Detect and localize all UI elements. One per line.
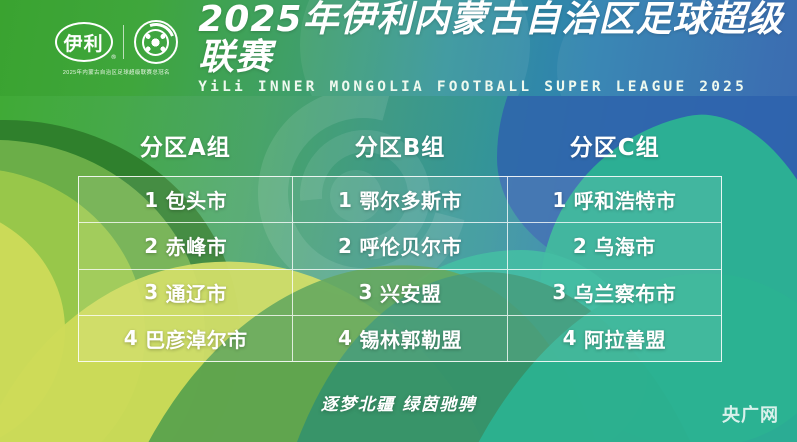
page-subtitle: YiLi INNER MONGOLIA FOOTBALL SUPER LEAGU… <box>198 79 747 95</box>
broadcast-graphic: 伊利 ® 2025年内蒙古自治区足球超级联赛总冠名 2025年伊利内蒙古自治区足… <box>0 0 797 442</box>
sponsor-logo-group: 伊利 ® 2025年内蒙古自治区足球超级联赛总冠名 <box>48 20 184 76</box>
header-banner: 伊利 ® 2025年内蒙古自治区足球超级联赛总冠名 2025年伊利内蒙古自治区足… <box>0 0 797 96</box>
rank-number: 4 <box>563 326 577 350</box>
team-name: 呼伦贝尔市 <box>359 231 462 260</box>
rank-number: 3 <box>359 280 373 304</box>
team-name: 赤峰市 <box>166 231 228 260</box>
channel-watermark: 央广网 <box>722 401 779 427</box>
rank-number: 4 <box>124 326 138 350</box>
sponsor-caption: 2025年内蒙古自治区足球超级联赛总冠名 <box>63 69 170 76</box>
rank-number: 1 <box>338 188 352 212</box>
rank-number: 1 <box>144 188 158 212</box>
group-heading-c: 分区C组 <box>507 128 722 172</box>
page-title: 2025年伊利内蒙古自治区足球超级联赛 <box>198 1 797 77</box>
table-cell: 1 包头市 <box>79 177 293 222</box>
rank-number: 2 <box>144 234 158 258</box>
group-headings: 分区A组 分区B组 分区C组 <box>78 128 722 172</box>
title-block: 2025年伊利内蒙古自治区足球超级联赛 YiLi INNER MONGOLIA … <box>198 1 797 96</box>
team-name: 呼和浩特市 <box>574 185 677 214</box>
team-name: 通辽市 <box>166 278 228 307</box>
team-name: 阿拉善盟 <box>584 324 666 353</box>
team-name: 锡林郭勒盟 <box>359 324 462 353</box>
table-cell: 2 呼伦贝尔市 <box>293 223 507 268</box>
logo-divider <box>123 25 124 59</box>
team-name: 乌海市 <box>594 231 656 260</box>
team-name: 乌兰察布市 <box>574 278 677 307</box>
group-draw-table: 1 包头市 1 鄂尔多斯市 1 呼和浩特市 2 赤峰市 2 呼伦贝尔市 2 <box>78 176 722 362</box>
crest-swoosh <box>130 17 180 67</box>
group-heading-a: 分区A组 <box>78 128 293 172</box>
table-cell: 2 乌海市 <box>508 223 721 268</box>
table-cell: 3 通辽市 <box>79 270 293 315</box>
table-cell: 1 呼和浩特市 <box>508 177 721 222</box>
table-cell: 4 锡林郭勒盟 <box>293 316 507 361</box>
rank-number: 2 <box>573 234 587 258</box>
yili-logo-icon: 伊利 ® <box>55 22 113 62</box>
yili-logo-text: 伊利 <box>64 29 104 56</box>
rank-number: 1 <box>552 188 566 212</box>
rank-number: 3 <box>552 280 566 304</box>
group-heading-b: 分区B组 <box>293 128 508 172</box>
logo-row: 伊利 ® <box>55 20 178 64</box>
table-row: 2 赤峰市 2 呼伦贝尔市 2 乌海市 <box>79 223 721 269</box>
team-name: 包头市 <box>166 185 228 214</box>
rank-number: 2 <box>338 234 352 258</box>
table-row: 3 通辽市 3 兴安盟 3 乌兰察布市 <box>79 270 721 316</box>
rank-number: 4 <box>338 326 352 350</box>
table-cell: 1 鄂尔多斯市 <box>293 177 507 222</box>
table-row: 4 巴彦淖尔市 4 锡林郭勒盟 4 阿拉善盟 <box>79 316 721 361</box>
registered-mark: ® <box>111 54 118 61</box>
slogan-text: 逐梦北疆 绿茵驰骋 <box>0 390 797 415</box>
team-name: 鄂尔多斯市 <box>359 185 462 214</box>
team-name: 兴安盟 <box>380 278 442 307</box>
football-crest-icon <box>134 20 178 64</box>
team-name: 巴彦淖尔市 <box>145 324 248 353</box>
table-cell: 4 阿拉善盟 <box>508 316 721 361</box>
table-cell: 2 赤峰市 <box>79 223 293 268</box>
table-cell: 4 巴彦淖尔市 <box>79 316 293 361</box>
table-row: 1 包头市 1 鄂尔多斯市 1 呼和浩特市 <box>79 177 721 223</box>
rank-number: 3 <box>144 280 158 304</box>
table-cell: 3 兴安盟 <box>293 270 507 315</box>
table-cell: 3 乌兰察布市 <box>508 270 721 315</box>
